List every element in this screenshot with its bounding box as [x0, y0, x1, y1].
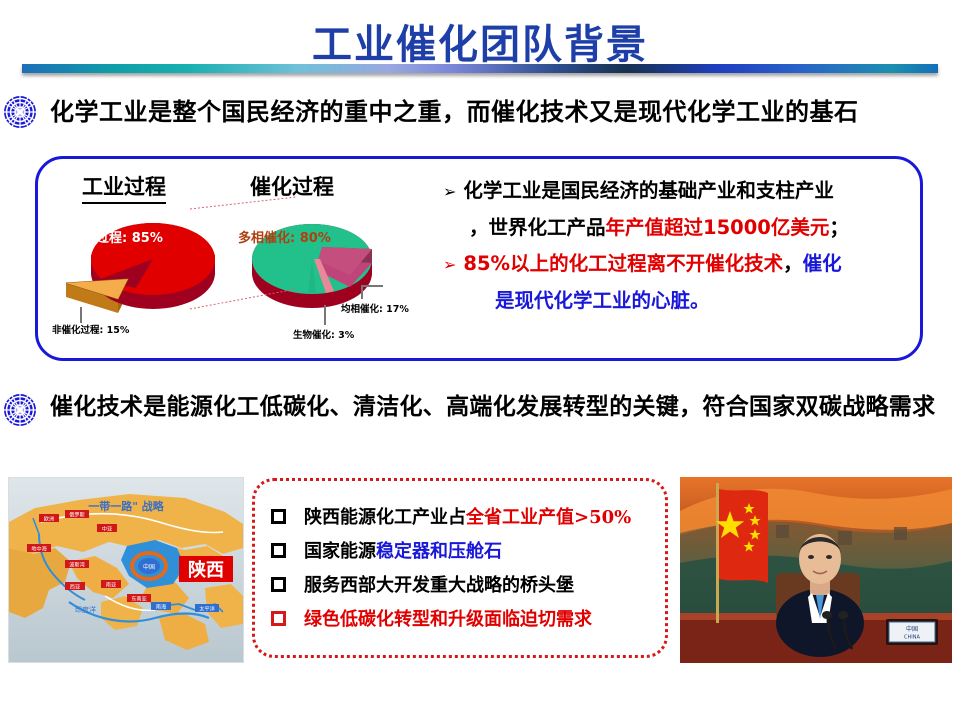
svg-text:波斯湾: 波斯湾	[69, 561, 85, 569]
svg-text:中亚: 中亚	[102, 525, 112, 533]
bullet-row-1: 化学工业是整个国民经济的重中之重，而催化技术又是现代化学工业的基石	[2, 94, 958, 130]
bullet-text-1: 化学工业是整个国民经济的重中之重，而催化技术又是现代化学工业的基石	[50, 94, 859, 129]
panel-line-3: ➢85%以上的化工过程离不开催化技术，催化	[443, 246, 915, 283]
checkbox-icon-2[interactable]	[271, 543, 286, 558]
checklist-item-4[interactable]: 绿色低碳化转型和升级面临迫切需求	[255, 601, 665, 635]
svg-text:地中海: 地中海	[31, 545, 47, 553]
svg-text:CHINA: CHINA	[904, 635, 920, 641]
wheel-bullet-icon-2	[2, 392, 38, 428]
checkbox-icon-4[interactable]	[271, 611, 286, 626]
chart-connector-lines	[38, 159, 438, 358]
panel-line-1-seg-1: 化学工业是国民经济的基础产业和支柱产业	[463, 179, 834, 202]
checklist-box: 陕西能源化工产业占全省工业产值>50% 国家能源稳定器和压舱石 服务西部大开发重…	[252, 478, 668, 658]
checklist-item-2[interactable]: 国家能源稳定器和压舱石	[255, 533, 665, 567]
checkbox-icon-3[interactable]	[271, 577, 286, 592]
panel-line-1: ➢化学工业是国民经济的基础产业和支柱产业	[443, 173, 915, 210]
checklist-item-3-seg-1: 服务西部大开发重大战略的桥头堡	[304, 575, 574, 596]
svg-text:南海: 南海	[156, 603, 166, 611]
leader-speech-photo: 中国 CHINA	[680, 477, 952, 663]
arrow-marker-icon: ➢	[443, 182, 456, 201]
info-panel-text: ➢化学工业是国民经济的基础产业和支柱产业 ，世界化工产品年产值超过15000亿美…	[443, 173, 915, 319]
svg-text:东南亚: 东南亚	[131, 595, 147, 603]
checklist-item-1-seg-2: 全省工业产值>50%	[466, 507, 631, 528]
panel-line-4: 是现代化学工业的心脏。	[443, 283, 915, 319]
checklist-item-4-seg-1: 绿色低碳化转型和升级面临迫切需求	[304, 609, 592, 630]
svg-text:一带一路" 战略: 一带一路" 战略	[88, 499, 165, 513]
checklist-item-2-seg-2: 稳定器和压舱石	[376, 541, 502, 562]
panel-line-2-seg-1: ，世界化工产品	[469, 216, 606, 239]
checklist-item-1[interactable]: 陕西能源化工产业占全省工业产值>50%	[255, 499, 665, 533]
svg-text:俄罗斯: 俄罗斯	[69, 511, 85, 519]
arrow-marker-icon-red: ➢	[443, 255, 456, 274]
info-panel: 工业过程 催化过程	[35, 156, 923, 361]
panel-line-3-seg-2: ，	[783, 252, 803, 275]
svg-text:中国: 中国	[143, 563, 155, 571]
checkbox-icon-1[interactable]	[271, 509, 286, 524]
wheel-bullet-icon	[2, 94, 38, 130]
pie-charts-area: 工业过程 催化过程	[38, 159, 438, 358]
panel-line-2-seg-2: 年产值超过15000亿美元	[606, 216, 830, 239]
checklist-item-2-seg-1: 国家能源	[304, 541, 376, 562]
checklist-item-1-seg-1: 陕西能源化工产业占	[304, 507, 466, 528]
svg-text:中国: 中国	[906, 625, 918, 633]
svg-text:欧洲: 欧洲	[44, 515, 54, 523]
panel-line-2: ，世界化工产品年产值超过15000亿美元；	[443, 210, 915, 246]
svg-text:太平洋: 太平洋	[199, 605, 215, 613]
svg-text:陕西: 陕西	[188, 559, 224, 581]
page-title: 工业催化团队背景	[0, 12, 960, 70]
panel-line-3-seg-3: 催化	[803, 252, 842, 275]
svg-text:印度洋: 印度洋	[75, 605, 96, 614]
checklist-item-3[interactable]: 服务西部大开发重大战略的桥头堡	[255, 567, 665, 601]
svg-text:西亚: 西亚	[70, 584, 80, 591]
panel-line-4-seg-1: 是现代化学工业的心脏。	[495, 289, 710, 312]
belt-and-road-map: 中国 欧洲 俄罗斯 中亚 地中海 波斯湾 西亚 南亚 东南亚 南海 太平洋	[8, 477, 244, 663]
title-divider-bar	[22, 64, 938, 73]
panel-line-3-seg-1: 85%以上的化工过程离不开催化技术	[463, 252, 783, 275]
panel-line-2-seg-3: ；	[829, 216, 849, 239]
slide-root: 工业催化团队背景 化学	[0, 0, 960, 720]
bullet-row-2: 催化技术是能源化工低碳化、清洁化、高端化发展转型的关键，符合国家双碳战略需求	[2, 392, 958, 428]
bullet-text-2: 催化技术是能源化工低碳化、清洁化、高端化发展转型的关键，符合国家双碳战略需求	[50, 392, 935, 423]
svg-text:南亚: 南亚	[106, 581, 116, 589]
